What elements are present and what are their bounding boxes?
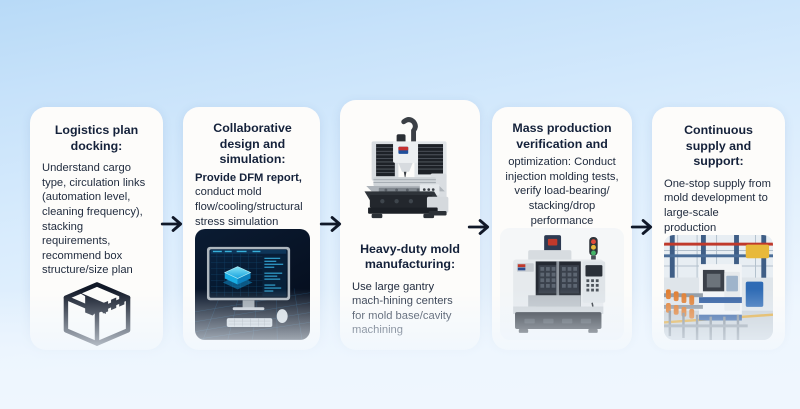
flow-step-card-continuous-supply-and-support[interactable]: Continuous supply and support: One-stop … [652,107,785,350]
flow-step-body: Provide DFM report, conduct mold flow/co… [195,171,310,229]
flow-step-card-heavy-duty-mold-manufacturing[interactable]: Heavy-duty mold manufacturing: Use large… [340,100,480,350]
flow-step-lead: Provide DFM report, [195,172,302,184]
gantry-machining-center-image [352,110,468,234]
arrow-right-icon [318,211,344,237]
desktop-computer-cad-simulation-image [195,229,310,340]
flow-steps-container: Logistics plan docking: Understand cargo… [0,0,800,409]
factory-conveyor-line-image [664,235,773,340]
flow-step-title: Heavy-duty mold manufacturing: [352,242,468,273]
flow-step-title: Continuous supply and support: [664,123,773,170]
flow-step-card-collaborative-design-and-simulation[interactable]: Collaborative design and simulation: Pro… [183,107,320,350]
flow-step-body: Use large gantry mach-hining centers for… [352,280,468,338]
flow-step-title: Collaborative design and simulation: [195,121,310,168]
cardboard-box-icon [42,278,151,354]
cnc-machining-center-image [500,228,624,340]
flow-step-card-logistics-plan-docking[interactable]: Logistics plan docking: Understand cargo… [30,107,163,350]
flow-step-body-text: conduct mold flow/cooling/structural str… [195,186,303,227]
flow-step-body: One-stop supply from mold development to… [664,177,773,235]
flow-step-title: Mass production verification and [500,121,624,152]
flow-step-title: Logistics plan docking: [42,123,151,154]
flow-step-body: Understand cargo type, circulation links… [42,161,151,278]
process-flow-infographic: Logistics plan docking: Understand cargo… [0,0,800,409]
flow-step-body: optimization: Conduct injection molding … [500,155,624,228]
arrow-right-icon [629,214,655,240]
flow-step-card-mass-production-verification[interactable]: Mass production verification and optimiz… [492,107,632,350]
arrow-right-icon [466,214,492,240]
arrow-right-icon [159,211,185,237]
